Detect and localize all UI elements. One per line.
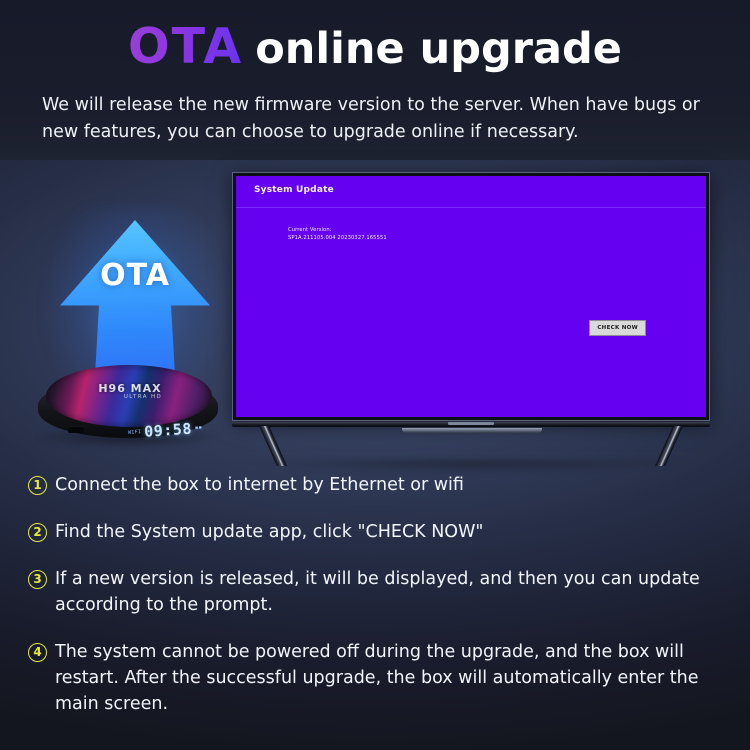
tv-screen: System Update Current Version: SP1A.2111…	[236, 176, 706, 417]
step-number: 4	[28, 643, 47, 662]
device-subtitle-label: ULTRA HD	[98, 394, 188, 400]
version-value: SP1A.211105.004 20230327.165551	[288, 234, 387, 242]
illustration-stage: OTA H96 MAX ULTRA HD WIFI 09:58 ▪▪ Syste…	[0, 160, 750, 470]
led-extra-icon: ▪▪	[195, 425, 203, 431]
step-text: The system cannot be powered off during …	[55, 639, 728, 717]
device-clock: 09:58	[144, 420, 193, 441]
check-now-button[interactable]: CHECK NOW	[589, 320, 646, 336]
current-version-block: Current Version: SP1A.211105.004 2023032…	[288, 226, 387, 242]
page-title: OTAonline upgrade	[0, 18, 750, 75]
television: System Update Current Version: SP1A.2111…	[232, 172, 710, 460]
system-update-titlebar: System Update	[236, 176, 706, 208]
step-number: 3	[28, 570, 47, 589]
arrow-label: OTA	[60, 258, 210, 293]
version-label: Current Version:	[288, 226, 387, 234]
list-item: 2 Find the System update app, click "CHE…	[28, 519, 728, 545]
ota-upgrade-infographic: OTAonline upgrade We will release the ne…	[0, 0, 750, 750]
intro-paragraph: We will release the new firmware version…	[42, 92, 714, 146]
tv-center-badge	[402, 428, 542, 433]
android-tv-box-device: H96 MAX ULTRA HD WIFI 09:58 ▪▪	[28, 360, 228, 455]
wifi-icon: WIFI	[128, 430, 142, 436]
list-item: 3 If a new version is released, it will …	[28, 566, 728, 618]
title-accent-ota: OTA	[128, 18, 243, 75]
step-text: Connect the box to internet by Ethernet …	[55, 472, 728, 498]
step-text: Find the System update app, click "CHECK…	[55, 519, 728, 545]
title-rest: online upgrade	[255, 24, 622, 74]
tv-brand-logo	[448, 422, 494, 425]
app-title: System Update	[254, 185, 334, 195]
step-text: If a new version is released, it will be…	[55, 566, 728, 618]
tv-bezel: System Update Current Version: SP1A.2111…	[232, 172, 710, 421]
list-item: 4 The system cannot be powered off durin…	[28, 639, 728, 717]
step-number: 1	[28, 476, 47, 495]
device-port-icon	[68, 426, 84, 433]
step-number: 2	[28, 523, 47, 542]
header-section: OTAonline upgrade We will release the ne…	[0, 0, 750, 160]
instruction-steps: 1 Connect the box to internet by Etherne…	[28, 472, 728, 738]
list-item: 1 Connect the box to internet by Etherne…	[28, 472, 728, 498]
